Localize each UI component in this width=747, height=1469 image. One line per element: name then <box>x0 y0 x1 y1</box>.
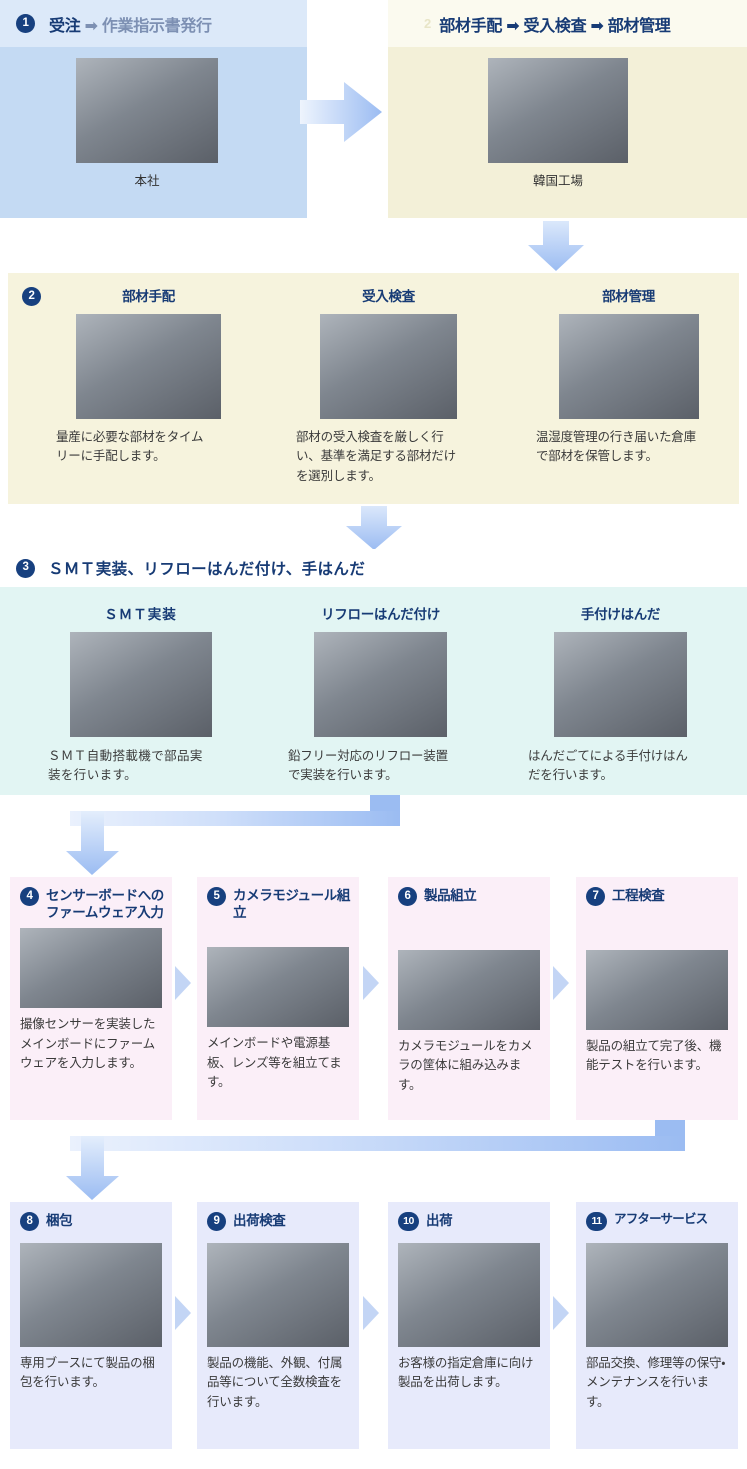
step-number-badge-9: 9 <box>207 1212 226 1231</box>
card-header: 10 出荷 <box>388 1202 550 1231</box>
column-title: リフローはんだ付け <box>288 603 473 623</box>
card-description: カメラモジュールをカメラの筐体に組み込みます。 <box>388 1030 550 1105</box>
step-card-11[interactable]: 11 アフターサービス 部品交換、修理等の保守・メンテナンスを行います。 <box>576 1202 738 1449</box>
camera-module-assembly-photo <box>207 947 349 1027</box>
step-number-badge-8: 8 <box>20 1212 39 1231</box>
card-photo-wrap <box>576 1231 738 1347</box>
card-photo-wrap <box>197 921 359 1027</box>
card-title: 出荷 <box>426 1212 452 1229</box>
card-title: センサーボードへのファームウェア入力 <box>46 887 164 921</box>
step-card-8[interactable]: 8 梱包 専用ブースにて製品の梱包を行います。 <box>10 1202 172 1449</box>
section-2-title-part-0: 部材手配 <box>439 18 502 35</box>
section-3-column-0: ＳＭＴ実装 ＳＭＴ自動搭載機で部品実装を行います。 <box>48 603 233 786</box>
flow-arrow-2-to-3 <box>346 506 402 550</box>
step-number-badge-5: 5 <box>207 887 226 906</box>
arrow-right-glyph: ➡ <box>85 18 98 35</box>
column-description: はんだごてによる手付けはんだを行います。 <box>528 747 696 786</box>
card-header: 7 工程検査 <box>576 877 738 906</box>
step-number-badge-2: 2 <box>22 287 41 306</box>
card-title: カメラモジュール組立 <box>233 887 351 921</box>
flow-arrow-9-to-10 <box>363 1296 379 1330</box>
step-card-9[interactable]: 9 出荷検査 製品の機能、外観、付属品等について全数検査を行います。 <box>197 1202 359 1449</box>
card-description: 撮像センサーを実装したメインボードにファームウェアを入力します。 <box>10 1008 172 1083</box>
arrow-right-glyph: ➡ <box>506 18 519 35</box>
card-description: 製品の機能、外観、付属品等について全数検査を行います。 <box>197 1347 359 1422</box>
card-description: お客様の指定倉庫に向け製品を出荷します。 <box>388 1347 550 1403</box>
column-description: 量産に必要な部材をタイムリーに手配します。 <box>56 428 206 467</box>
card-photo-wrap <box>10 921 172 1008</box>
step-number-badge-1: 1 <box>16 14 35 33</box>
camera-maintenance-photo <box>586 1243 728 1347</box>
column-description: 温湿度管理の行き届いた倉庫で部材を保管します。 <box>536 428 701 467</box>
card-header: 4 センサーボードへのファームウェア入力 <box>10 877 172 921</box>
column-description: 部材の受入検査を厳しく行い、基準を満足する部材だけを選別します。 <box>296 428 461 486</box>
section-2-title: 部材手配 ➡ 受入検査 ➡ 部材管理 <box>439 12 670 36</box>
column-description: ＳＭＴ自動搭載機で部品実装を行います。 <box>48 747 208 786</box>
section-2-title-part-2: 部材管理 <box>608 18 671 35</box>
card-title: 工程検査 <box>612 887 664 904</box>
section-3-body: ＳＭＴ実装 ＳＭＴ自動搭載機で部品実装を行います。 リフローはんだ付け 鉛フリー… <box>0 587 747 795</box>
step-card-10[interactable]: 10 出荷 お客様の指定倉庫に向け製品を出荷します。 <box>388 1202 550 1449</box>
cardboard-boxes-photo <box>398 1243 540 1347</box>
section-2-photo-caption: 韓国工場 <box>488 170 628 189</box>
card-photo-wrap <box>10 1231 172 1347</box>
card-photo-wrap <box>197 1231 359 1347</box>
card-description: メインボードや電源基板、レンズ等を組立てます。 <box>197 1027 359 1102</box>
card-title: 製品組立 <box>424 887 476 904</box>
section-2-header: 2 部材手配 ➡ 受入検査 ➡ 部材管理 <box>388 0 747 47</box>
section-3-column-1: リフローはんだ付け 鉛フリー対応のリフロー装置で実装を行います。 <box>288 603 473 786</box>
column-title: 部材管理 <box>536 285 721 305</box>
korea-factory-photo <box>488 58 628 163</box>
firmware-writing-photo <box>20 928 162 1008</box>
step-number-badge-11: 11 <box>586 1212 607 1231</box>
step-number-badge-2-ghost: 2 <box>424 17 431 30</box>
process-inspection-photo <box>586 950 728 1030</box>
column-title: 受入検査 <box>296 285 481 305</box>
flow-arrow-6-to-7 <box>553 966 569 1000</box>
incoming-inspection-photo <box>320 314 457 419</box>
card-title: 梱包 <box>46 1212 72 1229</box>
card-photo-wrap <box>576 906 738 1030</box>
flow-arrow-2-down <box>528 221 584 271</box>
step-number-badge-4: 4 <box>20 887 39 906</box>
step-card-4[interactable]: 4 センサーボードへのファームウェア入力 撮像センサーを実装したメインボードにフ… <box>10 877 172 1120</box>
card-photo-wrap <box>388 1231 550 1347</box>
section-2-column-2: 部材管理 温湿度管理の行き届いた倉庫で部材を保管します。 <box>536 285 721 467</box>
card-photo-wrap <box>388 906 550 1030</box>
process-flow-diagram: 1 受注 ➡ 作業指示書発行 本社 2 部材手配 ➡ 受入検査 <box>0 0 747 1469</box>
card-description: 部品交換、修理等の保守・メンテナンスを行います。 <box>576 1347 738 1422</box>
packing-booth-photo <box>20 1243 162 1347</box>
shipping-inspection-photo <box>207 1243 349 1347</box>
section-1-title: 受注 ➡ 作業指示書発行 <box>49 12 212 36</box>
office-meeting-photo <box>76 58 218 163</box>
step-number-badge-6: 6 <box>398 887 417 906</box>
section-1-title-main: 受注 <box>49 18 80 35</box>
flow-elbow-3-to-4 <box>60 795 400 875</box>
section-3-header: 3 ＳＭＴ実装、リフローはんだ付け、手はんだ <box>0 549 747 587</box>
column-title: 手付けはんだ <box>528 603 713 623</box>
flow-arrow-8-to-9 <box>175 1296 191 1330</box>
column-title: 部材手配 <box>56 285 241 305</box>
section-2-photo-block: 韓国工場 <box>488 58 628 189</box>
product-assembly-photo <box>398 950 540 1030</box>
section-1-title-sub: 作業指示書発行 <box>102 18 212 35</box>
card-header: 9 出荷検査 <box>197 1202 359 1231</box>
section-1-header: 1 受注 ➡ 作業指示書発行 <box>0 0 307 47</box>
card-header: 8 梱包 <box>10 1202 172 1231</box>
section-2-title-part-1: 受入検査 <box>523 18 586 35</box>
column-title: ＳＭＴ実装 <box>48 603 233 623</box>
card-header: 6 製品組立 <box>388 877 550 906</box>
section-2-column-0: 部材手配 量産に必要な部材をタイムリーに手配します。 <box>56 285 241 467</box>
card-title: 出荷検査 <box>233 1212 285 1229</box>
flow-arrow-1-to-2 <box>300 80 382 144</box>
step-number-badge-3: 3 <box>16 559 35 578</box>
step-card-7[interactable]: 7 工程検査 製品の組立て完了後、機能テストを行います。 <box>576 877 738 1120</box>
warehouse-shelves-photo <box>559 314 699 419</box>
card-description: 専用ブースにて製品の梱包を行います。 <box>10 1347 172 1403</box>
smt-mounter-machine-photo <box>70 632 212 737</box>
step-number-badge-7: 7 <box>586 887 605 906</box>
reflow-oven-line-photo <box>314 632 447 737</box>
step-card-5[interactable]: 5 カメラモジュール組立 メインボードや電源基板、レンズ等を組立てます。 <box>197 877 359 1120</box>
part-list-document-photo <box>76 314 221 419</box>
card-title: アフターサービス <box>614 1212 707 1228</box>
step-number-badge-10: 10 <box>398 1212 419 1231</box>
column-description: 鉛フリー対応のリフロー装置で実装を行います。 <box>288 747 456 786</box>
card-header: 11 アフターサービス <box>576 1202 738 1231</box>
section-2-detail-panel: 2 部材手配 量産に必要な部材をタイムリーに手配します。 受入検査 部材の受入検… <box>8 273 739 504</box>
section-1-photo-block: 本社 <box>76 58 218 189</box>
section-3-title: ＳＭＴ実装、リフローはんだ付け、手はんだ <box>48 557 365 579</box>
step-card-6[interactable]: 6 製品組立 カメラモジュールをカメラの筐体に組み込みます。 <box>388 877 550 1120</box>
flow-elbow-7-to-8 <box>60 1120 685 1200</box>
hand-soldering-photo <box>554 632 687 737</box>
section-1-photo-caption: 本社 <box>76 170 218 189</box>
arrow-right-glyph: ➡ <box>590 18 603 35</box>
card-header: 5 カメラモジュール組立 <box>197 877 359 921</box>
section-3-column-2: 手付けはんだ はんだごてによる手付けはんだを行います。 <box>528 603 713 786</box>
section-2-column-1: 受入検査 部材の受入検査を厳しく行い、基準を満足する部材だけを選別します。 <box>296 285 481 486</box>
flow-arrow-4-to-5 <box>175 966 191 1000</box>
card-description: 製品の組立て完了後、機能テストを行います。 <box>576 1030 738 1086</box>
flow-arrow-10-to-11 <box>553 1296 569 1330</box>
flow-arrow-5-to-6 <box>363 966 379 1000</box>
